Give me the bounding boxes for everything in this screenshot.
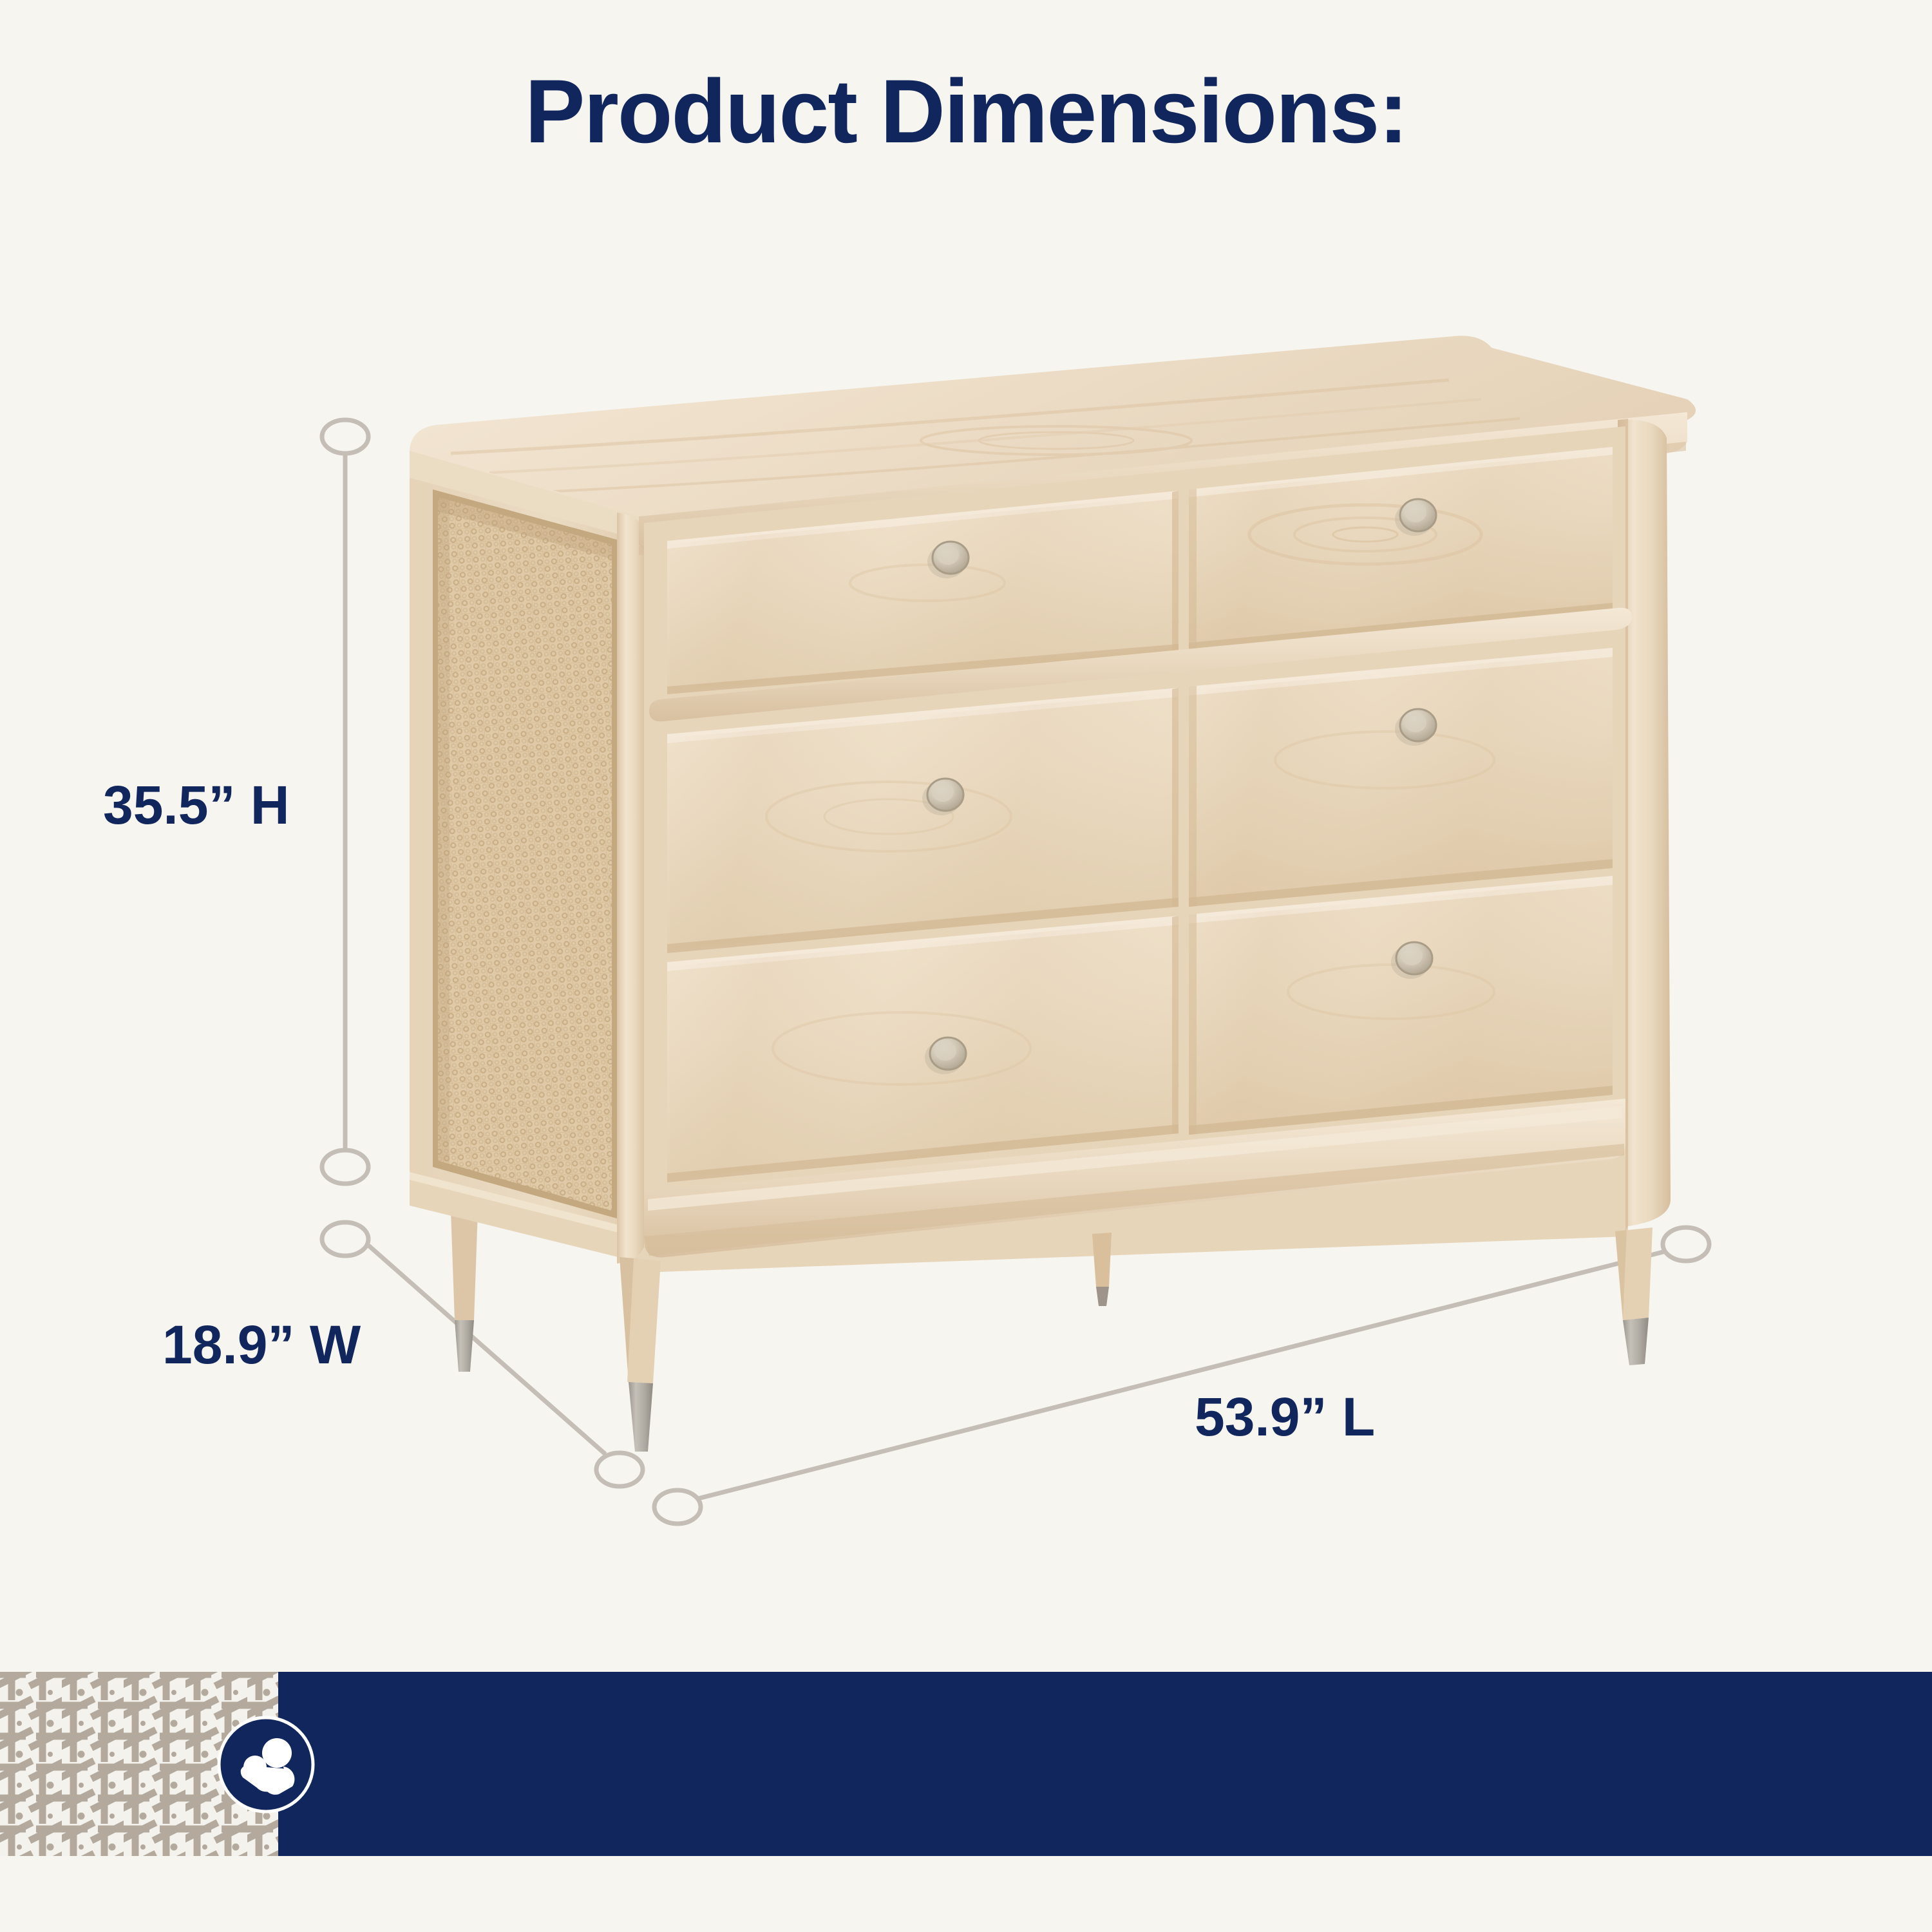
infographic-canvas: Product Dimensions:	[0, 0, 1932, 1932]
dimension-label-length: 53.9” L	[1195, 1386, 1375, 1448]
dimension-label-width: 18.9” W	[162, 1314, 361, 1376]
brand-logo	[217, 1716, 315, 1814]
dimension-labels: 35.5” H 18.9” W 53.9” L	[0, 0, 1932, 1932]
dimension-label-height: 35.5” H	[103, 774, 290, 837]
